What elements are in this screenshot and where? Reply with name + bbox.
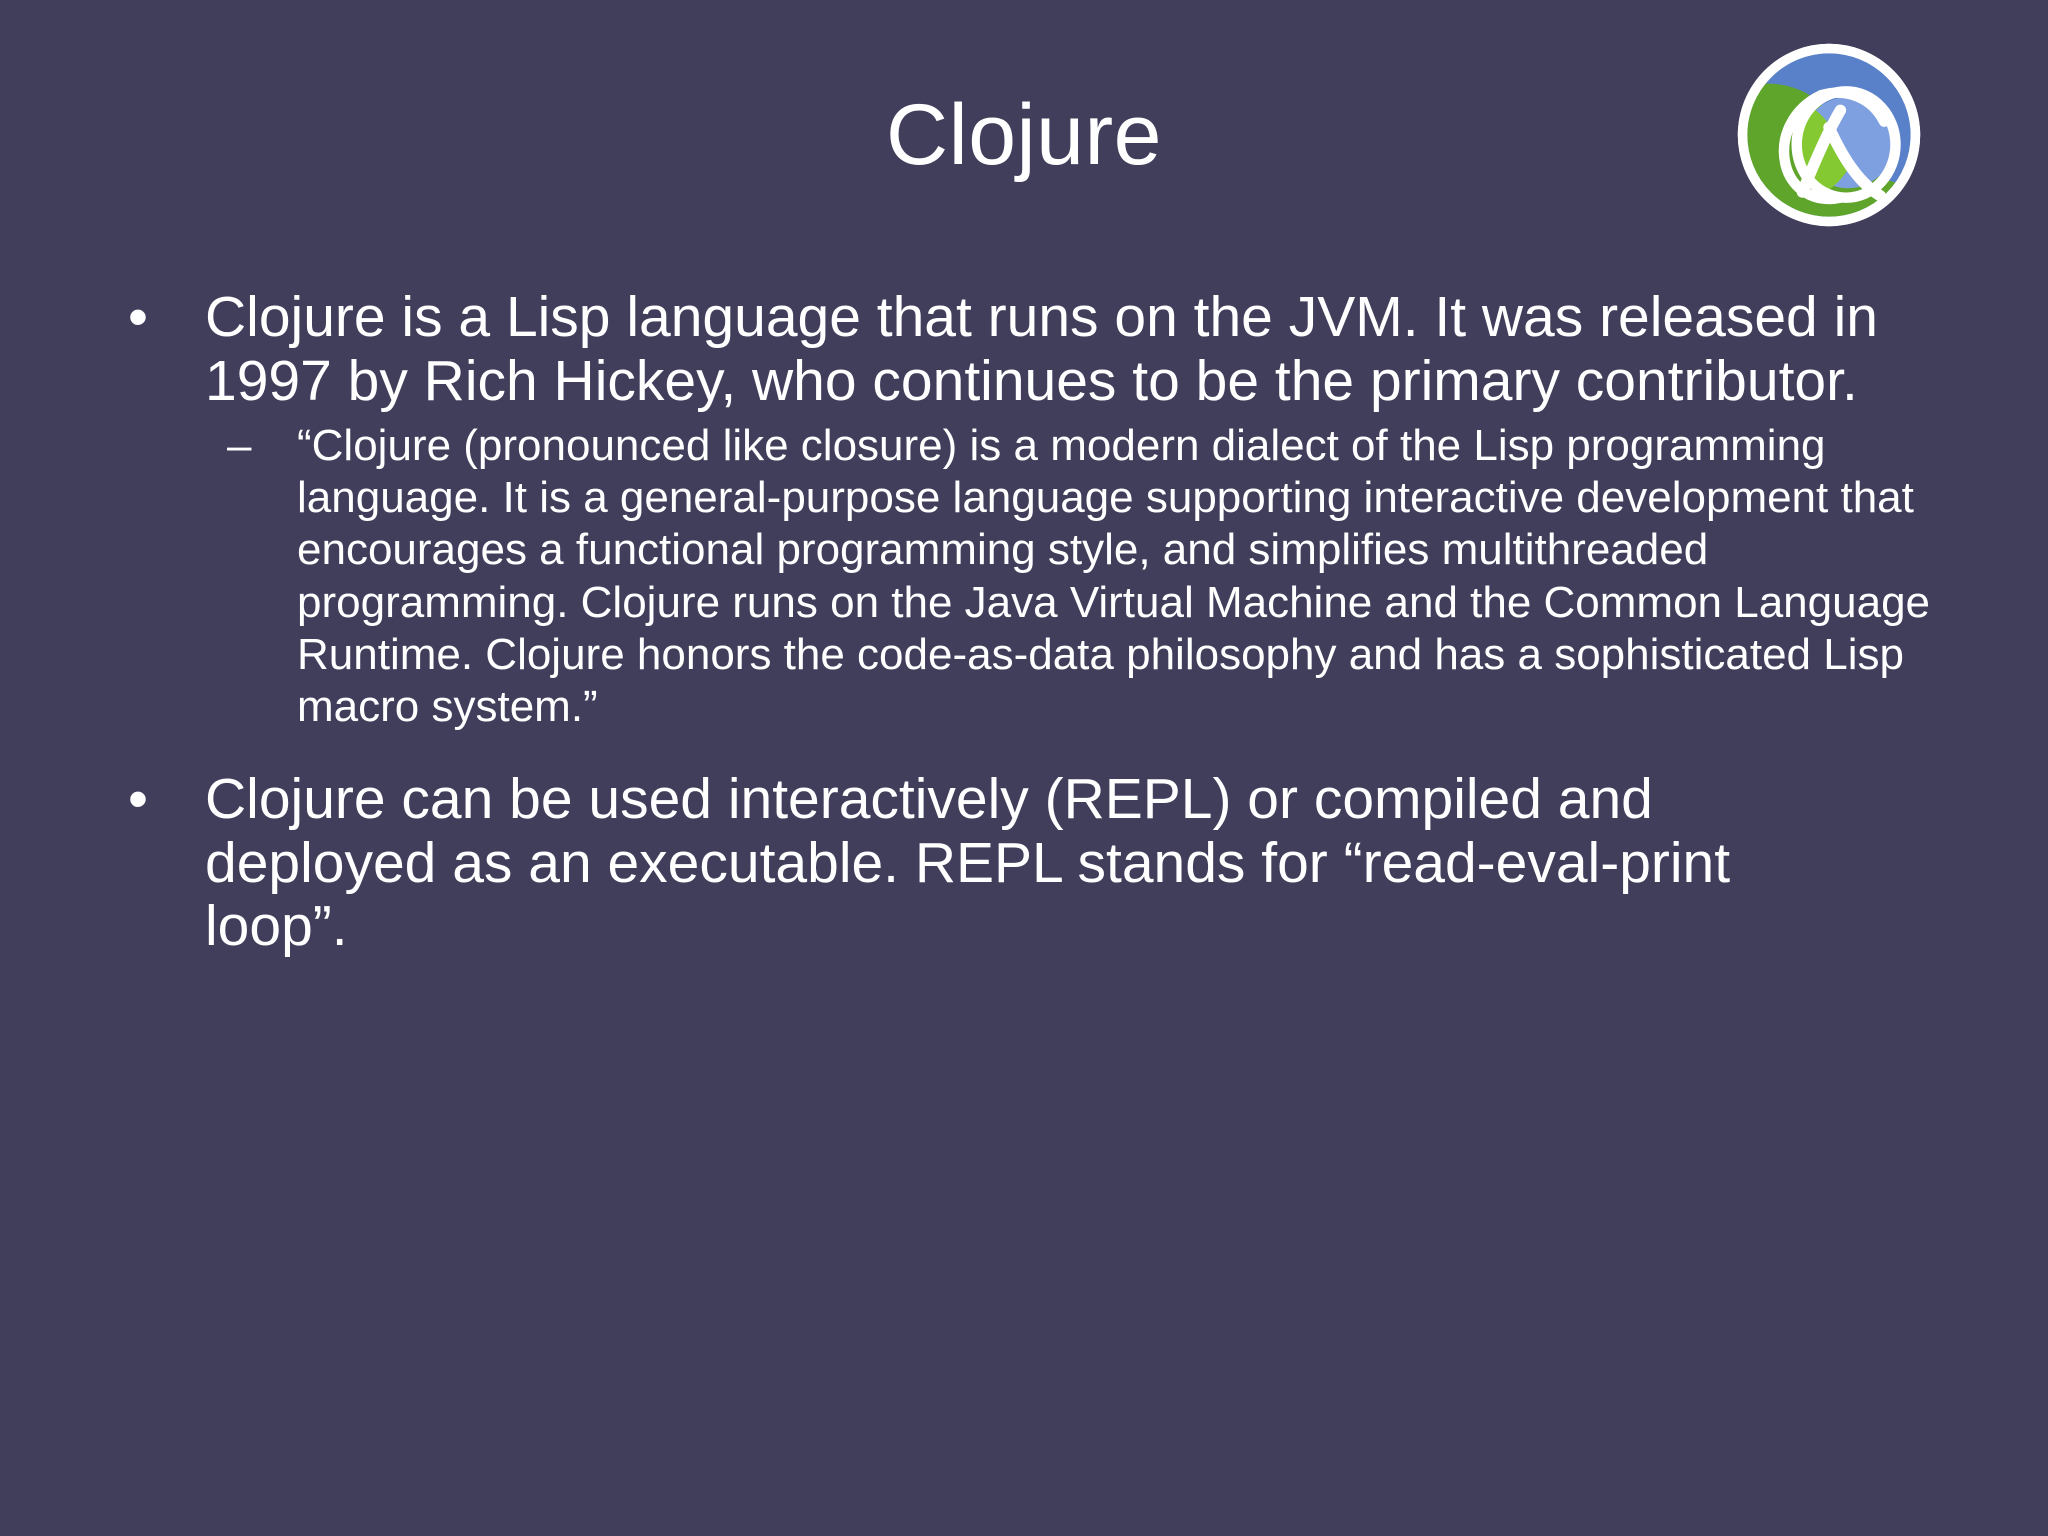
page-title: Clojure	[886, 92, 1162, 178]
bullet-item-2: • Clojure can be used interactively (REP…	[0, 768, 2048, 959]
sub-bullet-item-1: – “Clojure (pronounced like closure) is …	[205, 420, 2048, 734]
presentation-slide: Clojure	[0, 0, 2048, 1536]
bullet-spacer	[0, 734, 2048, 768]
bullet-marker-dot: •	[128, 286, 168, 350]
bullet-list-level2: – “Clojure (pronounced like closure) is …	[205, 420, 2048, 734]
bullet-list-level1: • Clojure is a Lisp language that runs o…	[0, 286, 2048, 959]
bullet-text-2: Clojure can be used interactively (REPL)…	[205, 768, 2048, 959]
bullet-item-1: • Clojure is a Lisp language that runs o…	[0, 286, 2048, 734]
sub-bullet-text-1: “Clojure (pronounced like closure) is a …	[297, 420, 2048, 734]
body-content: • Clojure is a Lisp language that runs o…	[0, 286, 2048, 959]
sub-bullet-marker-dash: –	[227, 420, 273, 472]
bullet-marker-dot: •	[128, 768, 168, 832]
bullet-text-1: Clojure is a Lisp language that runs on …	[205, 286, 2048, 414]
clojure-logo	[1734, 40, 1924, 230]
